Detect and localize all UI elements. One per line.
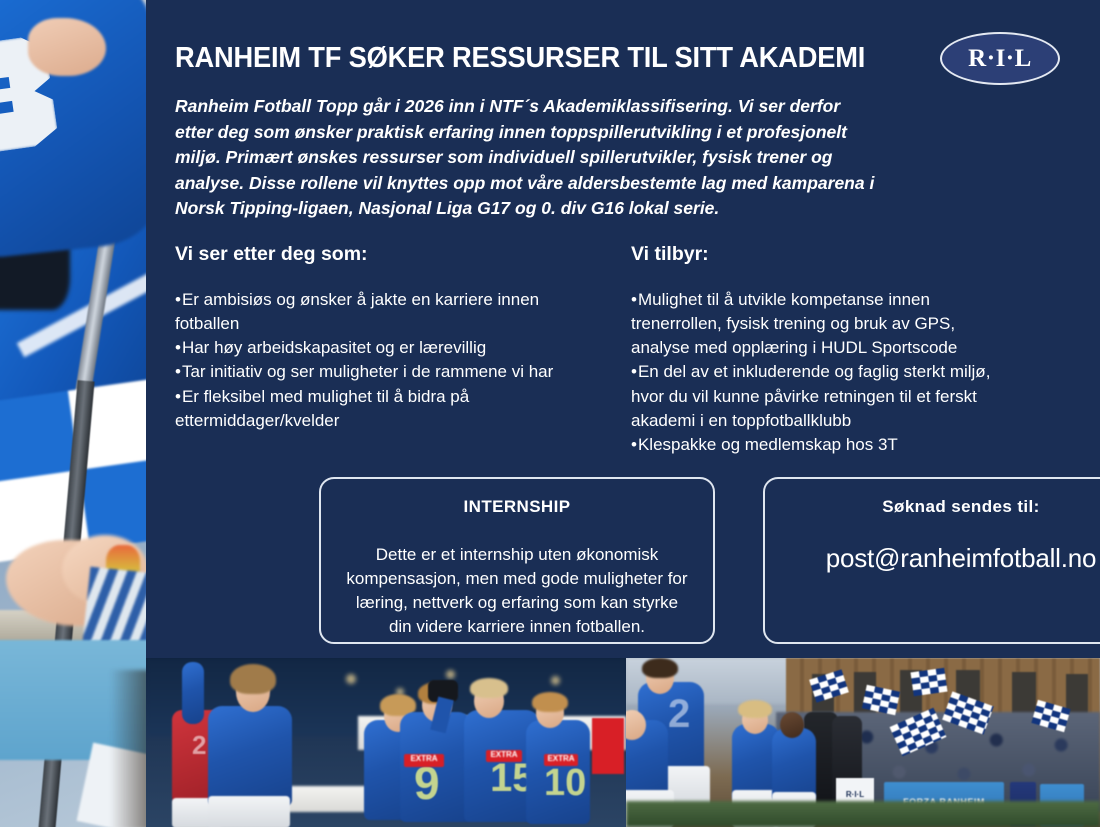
photo-br-player-standing	[772, 728, 816, 802]
page-title: RANHEIM TF SØKER RESSURSER TIL SITT AKAD…	[175, 42, 865, 75]
application-email[interactable]: post@ranheimfotball.no	[787, 543, 1100, 574]
photo-bottom-left-celebration: 2 9 15 10 EXTRA	[146, 658, 626, 827]
photo-bl-player-main-shirt	[208, 706, 292, 806]
content-panel: RANHEIM TF SØKER RESSURSER TIL SITT AKAD…	[146, 0, 1100, 658]
photo-bl-opponent-number: 2	[192, 730, 206, 761]
photo-br-pitch	[626, 801, 1100, 827]
photo-br-window	[1012, 672, 1036, 714]
photo-bl-sponsor-patch: EXTRA	[404, 754, 444, 767]
photo-bl-player-main-shorts	[208, 796, 290, 827]
ril-logo: R·I·L	[940, 32, 1060, 85]
photo-bl-player-main-hair	[230, 664, 276, 694]
column-requirements: Vi ser etter deg som: Er ambisiøs og øns…	[175, 243, 555, 457]
photo-left-hand-upper	[28, 18, 106, 76]
requirements-list: Er ambisiøs og ønsker å jakte en karrier…	[175, 288, 555, 433]
photo-bl-sponsor-patch: EXTRA	[544, 754, 578, 766]
photo-br-player-hair	[642, 658, 678, 678]
info-boxes: INTERNSHIP Dette er et internship uten ø…	[319, 477, 1100, 644]
poster-root: 2 9 15 10 EXTRA	[0, 0, 1100, 827]
photo-bl-sponsor-patch: EXTRA	[486, 750, 522, 762]
list-item: En del av et inkluderende og faglig ster…	[631, 360, 1011, 432]
photo-bl-player-number: 10	[544, 762, 586, 805]
application-box: Søknad sendes til: post@ranheimfotball.n…	[763, 477, 1100, 644]
list-item: Klespakke og medlemskap hos 3T	[631, 433, 1011, 457]
photo-br-player-number: 2	[668, 692, 690, 737]
list-item: Er ambisiøs og ønsker å jakte en karrier…	[175, 288, 555, 336]
ril-logo-text: R·I·L	[968, 45, 1032, 73]
list-item: Tar initiativ og ser muligheter i de ram…	[175, 360, 555, 384]
list-item: Er fleksibel med mulighet til å bidra på…	[175, 385, 555, 433]
photo-br-player-hair	[738, 700, 772, 718]
photo-bl-light	[346, 674, 356, 684]
internship-box-title: INTERNSHIP	[343, 497, 691, 517]
column-offer-heading: Vi tilbyr:	[631, 243, 1011, 266]
offer-list: Mulighet til å utvikle kompetanse innen …	[631, 288, 1011, 457]
internship-box-body: Dette er et internship uten økonomisk ko…	[343, 543, 691, 640]
photo-bl-light	[446, 670, 455, 679]
list-item: Mulighet til å utvikle kompetanse innen …	[631, 288, 1011, 360]
photo-bl-player-hair	[470, 678, 508, 698]
intro-paragraph: Ranheim Fotball Topp går i 2026 inn i NT…	[175, 94, 875, 222]
photo-bl-extra-ad	[592, 718, 624, 774]
internship-box: INTERNSHIP Dette er et internship uten ø…	[319, 477, 715, 644]
application-box-title: Søknad sendes til:	[787, 497, 1100, 517]
photo-bottom-strip: 2 9 15 10 EXTRA	[146, 658, 1100, 827]
photo-bl-player-main-arm	[182, 662, 204, 724]
photo-bl-player-hair	[532, 692, 568, 712]
photo-left-dark-edge	[110, 670, 146, 827]
photo-bl-light	[551, 676, 560, 685]
requirements-offer-columns: Vi ser etter deg som: Er ambisiøs og øns…	[175, 243, 1066, 457]
photo-left-supporter-flag	[0, 0, 146, 827]
photo-br-player-head	[780, 712, 804, 738]
list-item: Har høy arbeidskapasitet og er lærevilli…	[175, 336, 555, 360]
column-offer: Vi tilbyr: Mulighet til å utvikle kompet…	[631, 243, 1011, 457]
photo-br-supporter-flag	[910, 668, 947, 696]
column-requirements-heading: Vi ser etter deg som:	[175, 243, 555, 266]
photo-bottom-right-celebration: 2 R·I·L FORZA RANHEIM	[626, 658, 1100, 827]
poster-header: RANHEIM TF SØKER RESSURSER TIL SITT AKAD…	[175, 32, 1060, 85]
